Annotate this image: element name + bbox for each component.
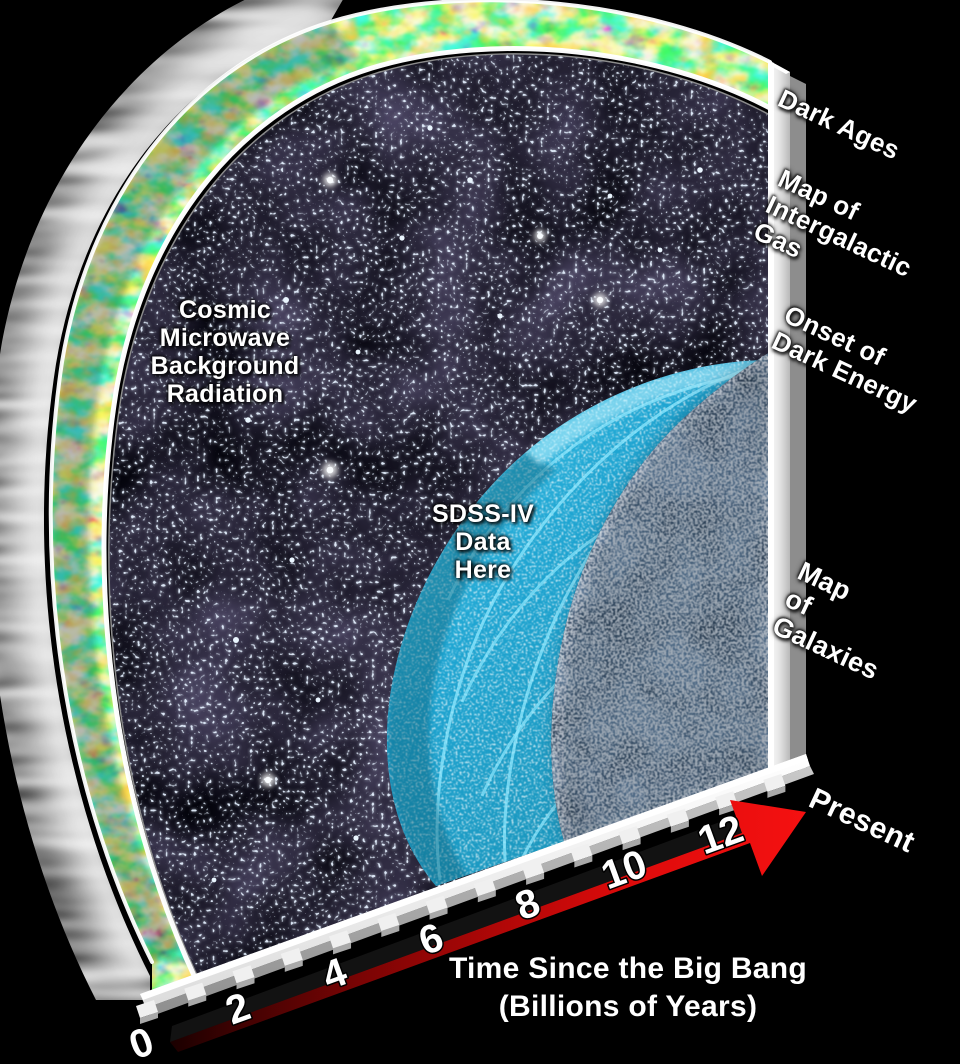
present-day-slab — [768, 60, 806, 772]
figure-canvas: 024681012 Cosmic Microwave Background Ra… — [0, 0, 960, 1064]
cosmic-timeline-diagram: 024681012 — [0, 0, 960, 1064]
